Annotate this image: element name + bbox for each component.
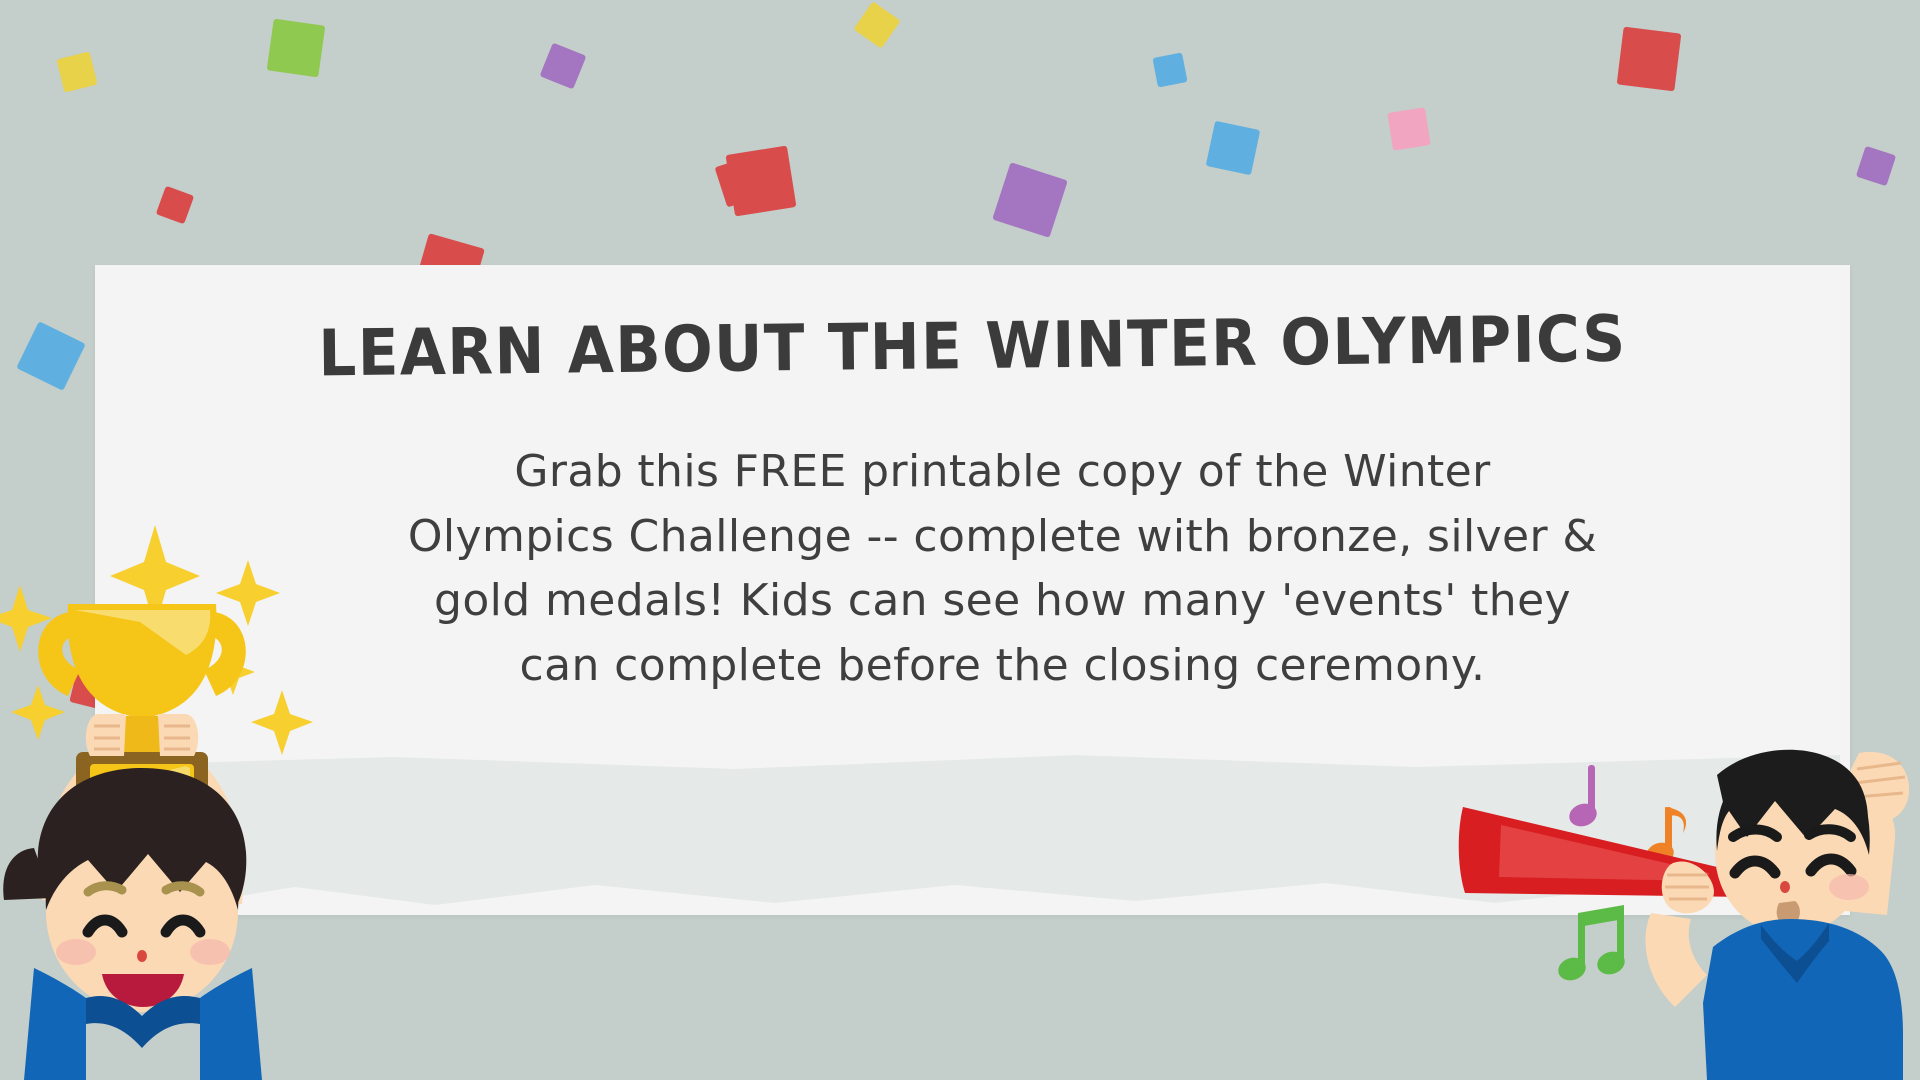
confetti-square — [56, 51, 97, 92]
boy-with-megaphone-illustration — [1455, 735, 1920, 1080]
confetti-square — [16, 321, 86, 391]
confetti-decoration — [0, 0, 1920, 260]
confetti-square — [1206, 121, 1261, 176]
confetti-square — [156, 186, 194, 224]
girl-face — [46, 800, 239, 1012]
confetti-square — [540, 43, 587, 90]
boy-shirt — [1703, 919, 1903, 1080]
body-line-2: Olympics Challenge -- complete with bron… — [305, 505, 1700, 570]
confetti-square — [992, 162, 1068, 238]
confetti-square — [726, 146, 797, 217]
body-copy: Grab this FREE printable copy of the Win… — [305, 440, 1700, 699]
girl-holding-trophy-illustration — [0, 500, 330, 1080]
poster-canvas: LEARN ABOUT THE WINTER OLYMPICS Grab thi… — [0, 0, 1920, 1080]
confetti-square — [1856, 146, 1896, 186]
confetti-square — [1152, 52, 1187, 87]
body-line-3: gold medals! Kids can see how many 'even… — [305, 569, 1700, 634]
confetti-square — [1617, 27, 1682, 92]
confetti-square — [1387, 107, 1430, 150]
boy-face — [1715, 753, 1870, 935]
body-line-4: can complete before the closing ceremony… — [305, 634, 1700, 699]
confetti-square — [267, 19, 326, 78]
body-line-1: Grab this FREE printable copy of the Win… — [305, 440, 1700, 505]
confetti-square — [853, 1, 900, 48]
